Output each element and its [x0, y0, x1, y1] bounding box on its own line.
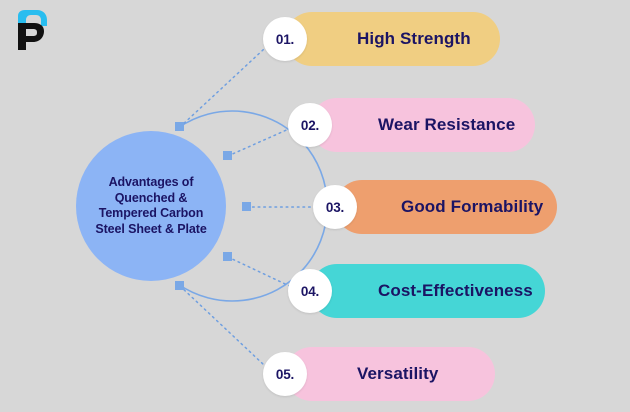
- item-badge-1[interactable]: 01.: [263, 17, 307, 61]
- item-label-3: Good Formability: [401, 197, 543, 217]
- item-badge-2[interactable]: 02.: [288, 103, 332, 147]
- arc-node-4: [223, 252, 232, 261]
- item-label-5: Versatility: [357, 364, 438, 384]
- item-badge-4[interactable]: 04.: [288, 269, 332, 313]
- item-badge-3[interactable]: 03.: [313, 185, 357, 229]
- arc-node-3: [242, 202, 251, 211]
- item-number-1: 01.: [276, 32, 294, 47]
- infographic-canvas: Advantages of Quenched & Tempered Carbon…: [0, 0, 630, 412]
- center-hub: Advantages of Quenched & Tempered Carbon…: [76, 131, 226, 281]
- arc-node-1: [175, 122, 184, 131]
- item-pill-5[interactable]: Versatility: [285, 347, 495, 401]
- center-title: Advantages of Quenched & Tempered Carbon…: [85, 175, 217, 237]
- item-pill-3[interactable]: Good Formability: [335, 180, 557, 234]
- leader-line-1: [180, 49, 264, 127]
- item-pill-4[interactable]: Cost-Effectiveness: [310, 264, 545, 318]
- item-number-2: 02.: [301, 118, 319, 133]
- item-number-4: 04.: [301, 284, 319, 299]
- item-pill-1[interactable]: High Strength: [285, 12, 500, 66]
- item-number-3: 03.: [326, 200, 344, 215]
- leader-line-5: [180, 286, 264, 365]
- item-badge-5[interactable]: 05.: [263, 352, 307, 396]
- item-label-4: Cost-Effectiveness: [378, 281, 533, 301]
- arc-node-5: [175, 281, 184, 290]
- item-number-5: 05.: [276, 367, 294, 382]
- item-label-2: Wear Resistance: [378, 115, 515, 135]
- item-label-1: High Strength: [357, 29, 471, 49]
- item-pill-2[interactable]: Wear Resistance: [310, 98, 535, 152]
- arc-node-2: [223, 151, 232, 160]
